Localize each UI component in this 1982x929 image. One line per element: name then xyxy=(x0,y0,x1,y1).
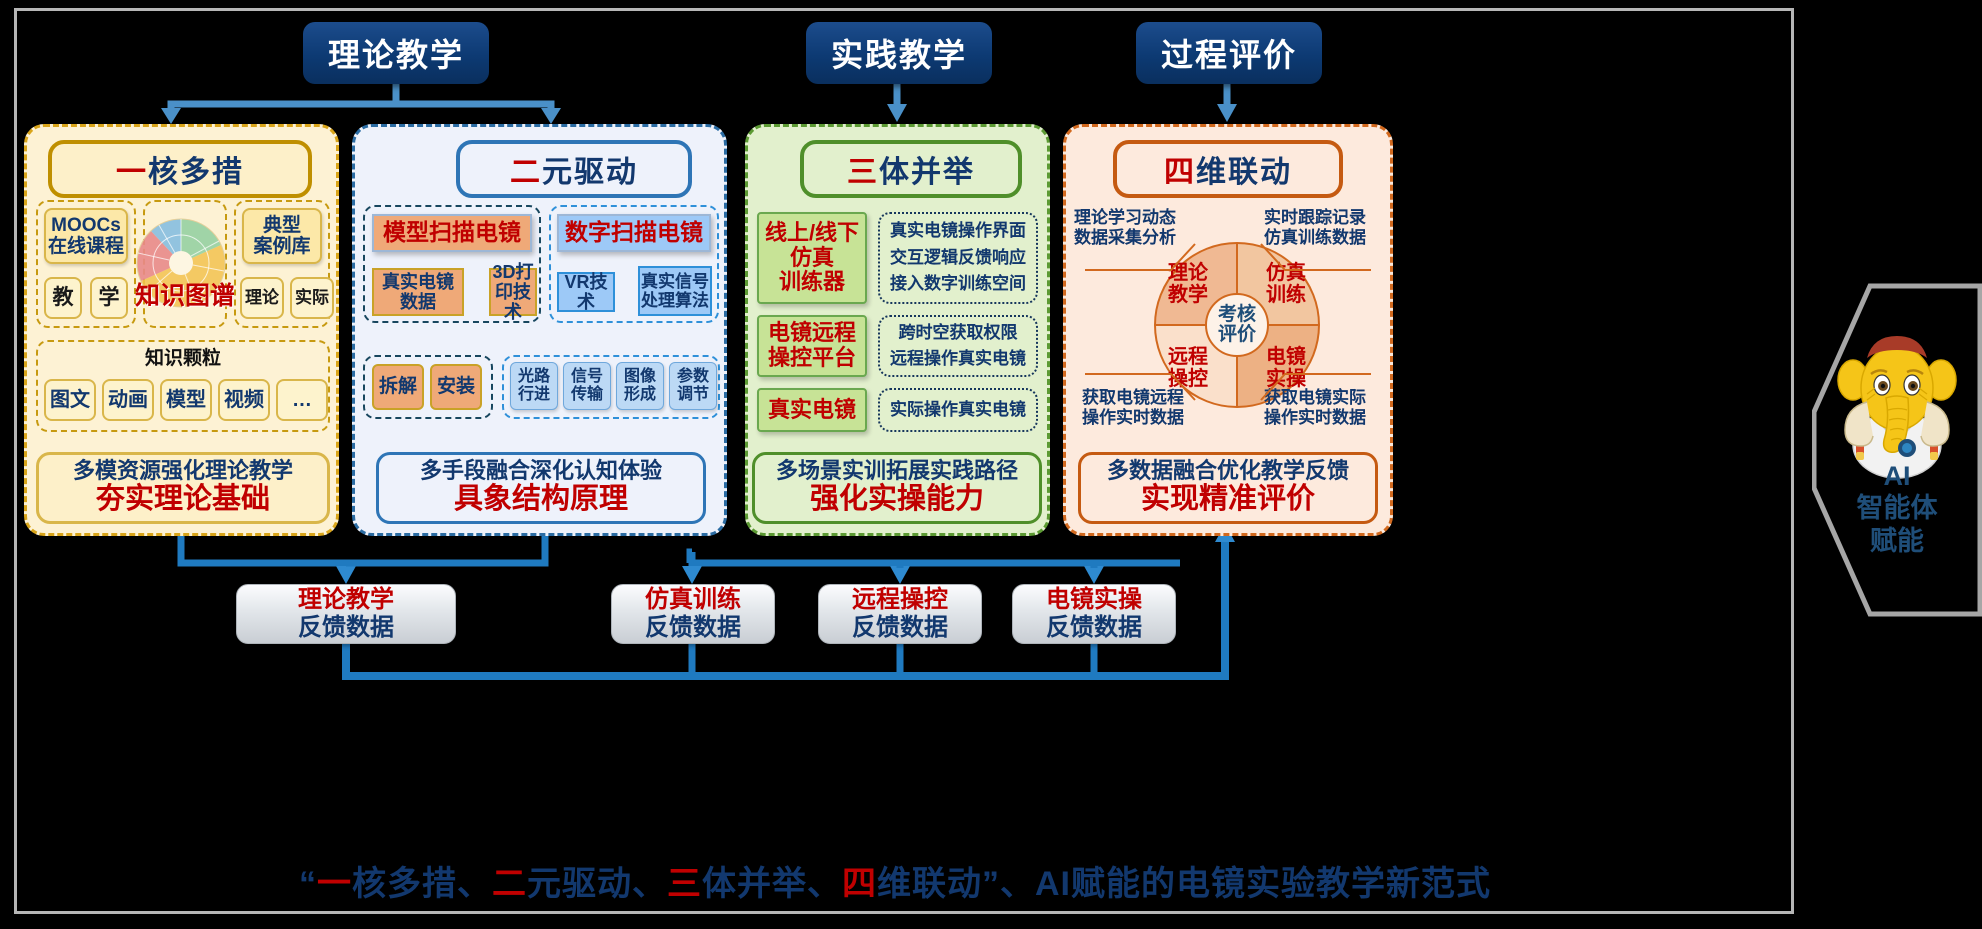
imaging-chip-2-l2: 形成 xyxy=(624,386,656,404)
imaging-chip-0-l1: 光路 xyxy=(518,368,550,386)
feedback-box-2[interactable]: 远程操控 反馈数据 xyxy=(818,584,982,644)
feedback-box-1[interactable]: 仿真训练 反馈数据 xyxy=(611,584,775,644)
panel4-note-2-l1: 获取电镜远程 xyxy=(1082,388,1184,408)
caption-s2: 二 xyxy=(492,865,527,903)
granule-chip-0[interactable]: 图文 xyxy=(44,379,96,421)
panel2-summary-main: 具象结构原理 xyxy=(454,483,628,516)
assessment-core-l2: 评价 xyxy=(1218,325,1256,345)
mascot-label: AI 智能体 赋能 xyxy=(1822,460,1972,557)
assessment-core-l1: 考核 xyxy=(1218,305,1256,325)
panel3-summary-main: 强化实操能力 xyxy=(810,483,984,516)
panel4-summary-main: 实现精准评价 xyxy=(1141,483,1315,516)
sim-note-0: 真实电镜操作界面 xyxy=(890,218,1026,244)
knowledge-graph-label: 知识图谱 xyxy=(135,276,235,316)
sim-note-1: 交互逻辑反馈响应 xyxy=(890,245,1026,271)
panel3-title: 三体并举 xyxy=(800,140,1022,198)
panel2-summary: 多手段融合深化认知体验 具象结构原理 xyxy=(376,452,706,524)
real-sem-band[interactable]: 真实电镜 xyxy=(757,388,867,432)
panel2-summary-sub: 多手段融合深化认知体验 xyxy=(420,459,662,483)
mascot-line2: 智能体 xyxy=(1822,492,1972,524)
panel4-note-1-l2: 仿真训练数据 xyxy=(1264,228,1366,248)
caption-quote-open: “ xyxy=(299,865,317,903)
remote-platform-notes: 跨时空获取权限 远程操作真实电镜 xyxy=(878,315,1038,377)
panel4-summary: 多数据融合优化教学反馈 实现精准评价 xyxy=(1078,452,1378,524)
panel1-summary-main: 夯实理论基础 xyxy=(96,483,270,516)
real-sem-note-0: 实际操作真实电镜 xyxy=(890,397,1026,423)
panel4-note-1-l1: 实时跟踪记录 xyxy=(1264,208,1366,228)
sim-trainer-l2: 仿真 xyxy=(790,246,834,271)
feedback-3-red: 电镜实操 xyxy=(1046,586,1142,614)
3d-print-box[interactable]: 3D打 印技术 xyxy=(489,268,537,316)
feedback-0-navy: 反馈数据 xyxy=(298,614,394,642)
ai-mascot xyxy=(1812,280,1982,620)
knowledge-granule-title: 知识颗粒 xyxy=(36,346,330,372)
quadrant-1-l1: 仿真 xyxy=(1258,262,1314,284)
feedback-box-3[interactable]: 电镜实操 反馈数据 xyxy=(1012,584,1176,644)
imaging-chip-1-l1: 信号 xyxy=(571,368,603,386)
panel1-summary: 多模资源强化理论教学 夯实理论基础 xyxy=(36,452,330,524)
panel4-note-0-l1: 理论学习动态 xyxy=(1074,208,1176,228)
practice-chip[interactable]: 实际 xyxy=(290,277,334,319)
panel1-title-num: 一 xyxy=(116,147,148,191)
teach-chip[interactable]: 教 xyxy=(44,277,82,319)
vr-tech-box[interactable]: VR技术 xyxy=(557,272,615,312)
caption-tail: 、AI赋能的电镜实验教学新范式 xyxy=(1000,865,1491,903)
sim-trainer-l1: 线上/线下 xyxy=(765,221,859,246)
signal-algo-box[interactable]: 真实信号 处理算法 xyxy=(638,266,712,316)
case-library-line2: 案例库 xyxy=(253,236,310,257)
imaging-chip-3-l2: 调节 xyxy=(677,386,709,404)
theory-chip[interactable]: 理论 xyxy=(240,277,284,319)
mooc-line2: 在线课程 xyxy=(48,236,124,257)
signal-algo-line2: 处理算法 xyxy=(641,291,709,310)
imaging-chip-0-l2: 行进 xyxy=(518,386,550,404)
feedback-3-navy: 反馈数据 xyxy=(1046,614,1142,642)
caption-quote-close: ” xyxy=(982,865,1000,903)
mooc-line1: MOOCs xyxy=(51,215,121,236)
panel2-title-rest: 元驱动 xyxy=(542,147,638,191)
sim-trainer-band[interactable]: 线上/线下 仿真 训练器 xyxy=(757,212,867,304)
diagram-canvas: 理论教学 实践教学 过程评价 一核多措 MOOCs 在线课程 教 学 xyxy=(0,0,1982,929)
real-sem-data-line2: 数据 xyxy=(400,292,436,312)
panel2-title: 二元驱动 xyxy=(456,140,692,198)
assessment-core: 考核 评价 xyxy=(1205,293,1269,357)
panel4-note-0-l2: 数据采集分析 xyxy=(1074,228,1176,248)
panel4-note-3-l2: 操作实时数据 xyxy=(1264,408,1366,428)
granule-chip-2[interactable]: 模型 xyxy=(160,379,212,421)
model-sem-band[interactable]: 模型扫描电镜 xyxy=(372,214,532,252)
panel3-summary: 多场景实训拓展实践路径 强化实操能力 xyxy=(752,452,1042,524)
feedback-2-navy: 反馈数据 xyxy=(852,614,948,642)
feedback-2-red: 远程操控 xyxy=(852,586,948,614)
remote-platform-l2: 操控平台 xyxy=(768,346,856,371)
panel4-note-0: 理论学习动态 数据采集分析 xyxy=(1074,208,1176,249)
signal-algo-line1: 真实信号 xyxy=(641,272,709,291)
real-sem-data-line1: 真实电镜 xyxy=(382,272,454,292)
header-practice-teaching[interactable]: 实践教学 xyxy=(806,22,992,84)
header-process-evaluation[interactable]: 过程评价 xyxy=(1136,22,1322,84)
feedback-1-navy: 反馈数据 xyxy=(645,614,741,642)
case-library-line1: 典型 xyxy=(263,215,301,236)
imaging-chip-0[interactable]: 光路 行进 xyxy=(510,362,558,410)
imaging-chip-2[interactable]: 图像 形成 xyxy=(616,362,664,410)
imaging-chip-1[interactable]: 信号 传输 xyxy=(563,362,611,410)
granule-chip-4[interactable]: … xyxy=(276,379,328,421)
real-sem-notes: 实际操作真实电镜 xyxy=(878,388,1038,432)
panel4-note-3-l1: 获取电镜实际 xyxy=(1264,388,1366,408)
quadrant-0-l1: 理论 xyxy=(1160,262,1216,284)
remote-platform-band[interactable]: 电镜远程 操控平台 xyxy=(757,315,867,377)
panel4-note-2: 获取电镜远程 操作实时数据 xyxy=(1082,388,1184,429)
mooc-box[interactable]: MOOCs 在线课程 xyxy=(44,208,128,264)
panel3-summary-sub: 多场景实训拓展实践路径 xyxy=(776,459,1018,483)
imaging-chip-3-l1: 参数 xyxy=(677,368,709,386)
mascot-line3: 赋能 xyxy=(1822,525,1972,557)
panel4-title-num: 四 xyxy=(1164,147,1196,191)
panel1-summary-sub: 多模资源强化理论教学 xyxy=(73,459,293,483)
panel1-title-rest: 核多措 xyxy=(148,147,244,191)
panel2-title-num: 二 xyxy=(510,147,542,191)
quadrant-2-l2: 操控 xyxy=(1160,368,1216,390)
op-chip-0[interactable]: 拆解 xyxy=(372,364,424,410)
panel4-note-3: 获取电镜实际 操作实时数据 xyxy=(1264,388,1366,429)
panel4-title-rest: 维联动 xyxy=(1196,147,1292,191)
panel4-note-1: 实时跟踪记录 仿真训练数据 xyxy=(1264,208,1366,249)
bottom-caption: “一核多措、二元驱动、三体并举、四维联动”、AI赋能的电镜实验教学新范式 xyxy=(0,856,1790,905)
caption-s1r: 核多措、 xyxy=(352,865,492,903)
panel4-summary-sub: 多数据融合优化教学反馈 xyxy=(1107,459,1349,483)
feedback-box-0[interactable]: 理论教学 反馈数据 xyxy=(236,584,456,644)
caption-s4r: 维联动 xyxy=(877,865,982,903)
imaging-chip-2-l1: 图像 xyxy=(624,368,656,386)
feedback-1-red: 仿真训练 xyxy=(645,586,741,614)
3d-print-line1: 3D打 xyxy=(492,262,533,282)
panel3-title-rest: 体并举 xyxy=(879,147,975,191)
3d-print-line2: 印技术 xyxy=(491,282,535,322)
real-sem-data-box[interactable]: 真实电镜 数据 xyxy=(372,268,464,316)
quadrant-3-l2: 实操 xyxy=(1258,368,1314,390)
imaging-chip-3[interactable]: 参数 调节 xyxy=(669,362,717,410)
remote-note-1: 远程操作真实电镜 xyxy=(890,346,1026,372)
header-theory-teaching[interactable]: 理论教学 xyxy=(303,22,489,84)
caption-s3r: 体并举、 xyxy=(702,865,842,903)
sim-trainer-l3: 训练器 xyxy=(779,270,845,295)
granule-chip-1[interactable]: 动画 xyxy=(102,379,154,421)
panel3-title-num: 三 xyxy=(847,147,879,191)
sim-trainer-notes: 真实电镜操作界面 交互逻辑反馈响应 接入数字训练空间 xyxy=(878,212,1038,304)
panel4-note-2-l2: 操作实时数据 xyxy=(1082,408,1184,428)
case-library-box[interactable]: 典型 案例库 xyxy=(242,208,322,264)
panel4-title: 四维联动 xyxy=(1113,140,1343,198)
imaging-chip-1-l2: 传输 xyxy=(571,386,603,404)
caption-s3: 三 xyxy=(667,865,702,903)
mascot-line1: AI xyxy=(1822,460,1972,492)
sim-note-2: 接入数字训练空间 xyxy=(890,271,1026,297)
remote-platform-l1: 电镜远程 xyxy=(768,321,856,346)
op-chip-1[interactable]: 安装 xyxy=(430,364,482,410)
caption-s2r: 元驱动、 xyxy=(527,865,667,903)
caption-s4: 四 xyxy=(842,865,877,903)
panel1-title: 一核多措 xyxy=(48,140,312,198)
caption-s1: 一 xyxy=(317,865,352,903)
granule-chip-3[interactable]: 视频 xyxy=(218,379,270,421)
remote-note-0: 跨时空获取权限 xyxy=(899,320,1018,346)
feedback-0-red: 理论教学 xyxy=(298,586,394,614)
digital-sem-band[interactable]: 数字扫描电镜 xyxy=(557,214,711,252)
learn-chip[interactable]: 学 xyxy=(90,277,128,319)
